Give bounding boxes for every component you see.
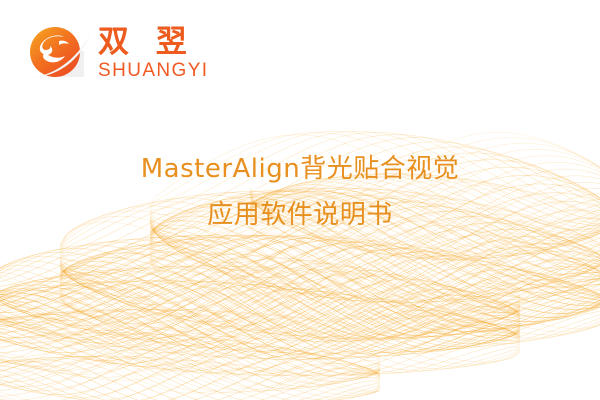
brand-header: 双 翌 SHUANGYI — [26, 18, 208, 90]
shuangyi-phoenix-logo-icon — [26, 21, 92, 87]
document-title-line-1: MasterAlign背光贴合视觉 — [0, 146, 600, 192]
logo-chinese-name: 双 翌 — [98, 26, 208, 59]
logo-english-name: SHUANGYI — [98, 60, 208, 82]
document-title-line-2: 应用软件说明书 — [0, 192, 600, 238]
document-cover-page: 双 翌 SHUANGYI MasterAlign背光贴合视觉 应用软件说明书 — [0, 0, 600, 400]
logo-wordmark: 双 翌 SHUANGYI — [98, 26, 208, 83]
document-title: MasterAlign背光贴合视觉 应用软件说明书 — [0, 146, 600, 238]
